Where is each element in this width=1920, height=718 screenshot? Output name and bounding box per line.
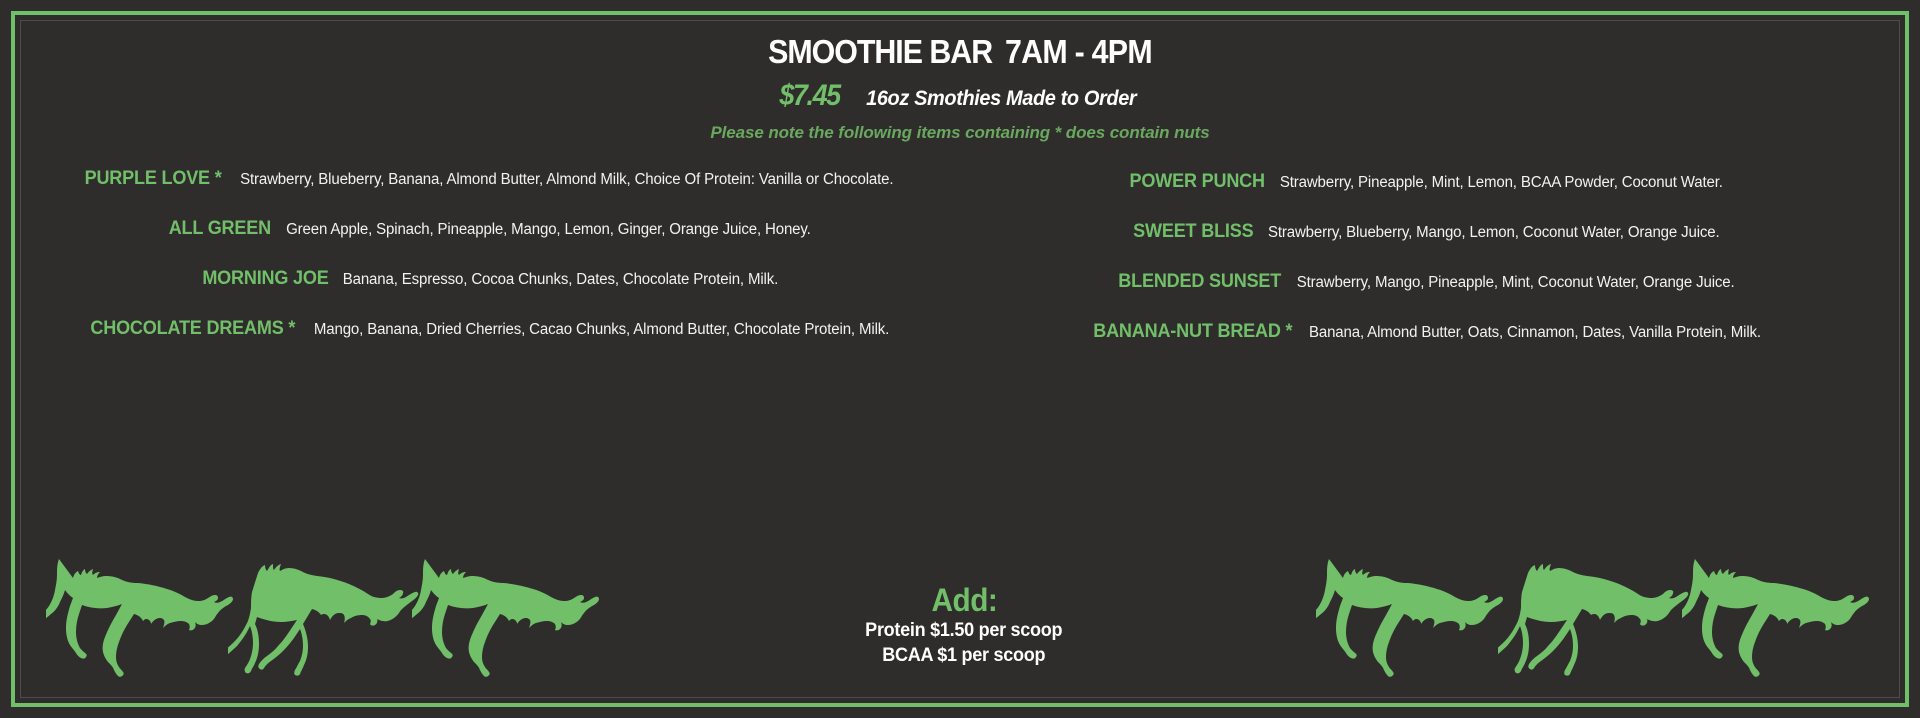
running-horse-icon xyxy=(1498,556,1698,686)
menu-item-description: Strawberry, Pineapple, Mint, Lemon, BCAA… xyxy=(1280,173,1723,193)
smoothie-bar-menu-board: SMOOTHIE BAR7AM - 4PM $7.45 16oz Smothie… xyxy=(0,0,1920,718)
price-label: $7.45 xyxy=(780,81,840,111)
menu-item: PURPLE LOVE * Strawberry, Blueberry, Ban… xyxy=(24,161,960,207)
menu-item-description: Banana, Almond Butter, Oats, Cinnamon, D… xyxy=(1309,323,1761,343)
menu-item-description: Strawberry, Mango, Pineapple, Mint, Coco… xyxy=(1297,273,1735,293)
menu-item-description: Green Apple, Spinach, Pineapple, Mango, … xyxy=(286,220,811,240)
menu-item-description: Strawberry, Blueberry, Mango, Lemon, Coc… xyxy=(1268,223,1720,243)
allergen-note: Please note the following items containi… xyxy=(24,123,1896,143)
price-subtitle-row: $7.45 16oz Smothies Made to Order xyxy=(24,81,1896,111)
menu-item-description: Banana, Espresso, Cocoa Chunks, Dates, C… xyxy=(343,270,778,290)
running-horse-icon xyxy=(228,556,428,686)
menu-item-name: CHOCOLATE DREAMS * xyxy=(91,317,296,342)
running-horse-icon xyxy=(412,556,612,686)
title-main-text: SMOOTHIE BAR xyxy=(768,33,992,70)
running-horse-icon xyxy=(1316,556,1516,686)
addons-panel: Add: Protein $1.50 per scoop BCAA $1 per… xyxy=(860,583,1067,686)
menu-item: MORNING JOE Banana, Espresso, Cocoa Chun… xyxy=(24,261,960,307)
page-title: SMOOTHIE BAR7AM - 4PM xyxy=(99,35,1821,70)
horse-decoration-left xyxy=(46,556,612,686)
menu-columns: PURPLE LOVE * Strawberry, Blueberry, Ban… xyxy=(24,161,1896,365)
menu-item-name: POWER PUNCH xyxy=(1130,170,1265,195)
menu-item-name: MORNING JOE xyxy=(202,267,328,292)
subtitle-label: 16oz Smothies Made to Order xyxy=(866,88,1136,109)
menu-item: BANANA-NUT BREAD * Banana, Almond Butter… xyxy=(960,314,1896,360)
menu-item: CHOCOLATE DREAMS * Mango, Banana, Dried … xyxy=(24,311,960,357)
addon-bcaa-line: BCAA $1 per scoop xyxy=(865,643,1062,668)
menu-content: SMOOTHIE BAR7AM - 4PM $7.45 16oz Smothie… xyxy=(24,24,1896,694)
title-hours-text: 7AM - 4PM xyxy=(1005,33,1152,70)
running-horse-icon xyxy=(1682,556,1882,686)
menu-item-name: ALL GREEN xyxy=(168,217,270,242)
menu-item: SWEET BLISS Strawberry, Blueberry, Mango… xyxy=(960,214,1896,260)
menu-column-right: POWER PUNCH Strawberry, Pineapple, Mint,… xyxy=(960,161,1896,365)
menu-item-name: BANANA-NUT BREAD * xyxy=(1093,320,1292,345)
menu-header: SMOOTHIE BAR7AM - 4PM $7.45 16oz Smothie… xyxy=(24,24,1896,143)
bottom-band: Add: Protein $1.50 per scoop BCAA $1 per… xyxy=(24,526,1896,686)
menu-item: POWER PUNCH Strawberry, Pineapple, Mint,… xyxy=(960,164,1896,210)
menu-item-name: BLENDED SUNSET xyxy=(1119,270,1282,295)
running-horse-icon xyxy=(46,556,246,686)
menu-item-name: SWEET BLISS xyxy=(1133,220,1253,245)
menu-item-description: Mango, Banana, Dried Cherries, Cacao Chu… xyxy=(314,320,889,340)
menu-column-left: PURPLE LOVE * Strawberry, Blueberry, Ban… xyxy=(24,161,960,365)
menu-item-description: Strawberry, Blueberry, Banana, Almond Bu… xyxy=(240,170,893,190)
menu-item-name: PURPLE LOVE * xyxy=(85,167,222,192)
addons-title: Add: xyxy=(931,583,997,618)
horse-decoration-right xyxy=(1316,556,1882,686)
menu-item: BLENDED SUNSET Strawberry, Mango, Pineap… xyxy=(960,264,1896,310)
addon-protein-line: Protein $1.50 per scoop xyxy=(865,618,1062,643)
menu-item: ALL GREEN Green Apple, Spinach, Pineappl… xyxy=(24,211,960,257)
